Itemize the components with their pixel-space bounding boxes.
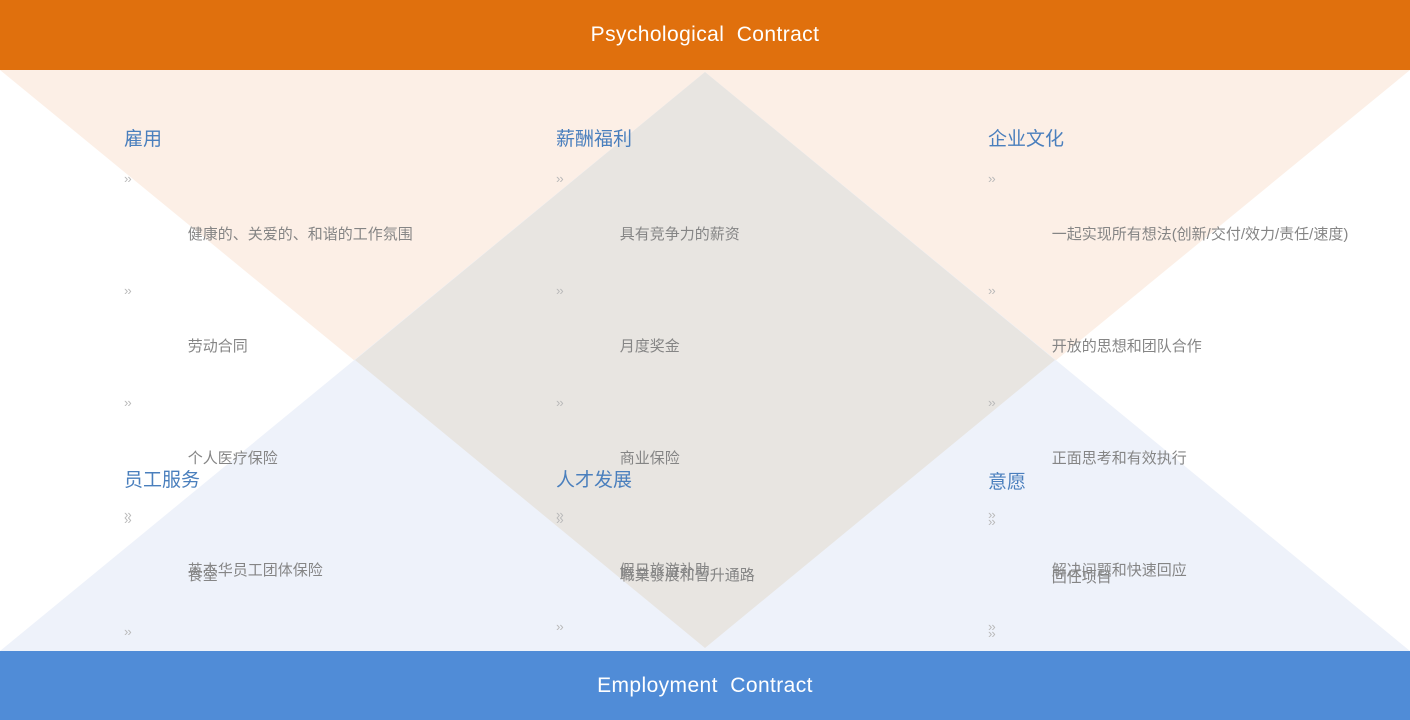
- list-item-label: 个人医疗保险: [188, 450, 278, 467]
- chevron-double-right-icon: ››: [988, 277, 995, 305]
- list-item[interactable]: ›› 職業發展和晉升通路: [556, 506, 956, 618]
- list-item-label: 劳动合同: [188, 338, 248, 355]
- list-item[interactable]: ›› 回任项目: [988, 508, 1400, 620]
- list-item-label: 一起实现所有想法(创新/交付/效力/责任/速度): [1052, 226, 1349, 243]
- list-item[interactable]: ›› 食堂: [124, 506, 524, 618]
- list-item-label: 具有竞争力的薪资: [620, 226, 740, 243]
- header-title: Psychological Contract: [591, 23, 820, 47]
- list-item-label: 職業發展和晉升通路: [620, 567, 755, 584]
- chevron-double-right-icon: ››: [988, 508, 995, 536]
- category-title: 薪酬福利: [556, 127, 956, 153]
- list-item-label: 食堂: [188, 567, 218, 584]
- chevron-double-right-icon: ››: [556, 506, 563, 534]
- category-block-talent-development: 人才发展 ›› 職業發展和晉升通路: [556, 468, 956, 618]
- category-title: 意愿: [988, 470, 1400, 496]
- slide-canvas: Psychological Contract 雇用 ›› 健康的、关爱的、和谐的…: [0, 0, 1410, 720]
- footer-title: Employment Contract: [597, 674, 813, 698]
- header-banner: Psychological Contract: [0, 0, 1410, 70]
- chevron-double-right-icon: ››: [124, 165, 131, 193]
- chevron-double-right-icon: ››: [556, 389, 563, 417]
- category-title: 雇用: [124, 127, 524, 153]
- list-item-label: 月度奖金: [620, 338, 680, 355]
- footer-banner: Employment Contract: [0, 651, 1410, 720]
- list-item-label: 开放的思想和团队合作: [1052, 338, 1202, 355]
- list-item[interactable]: ›› 具有竞争力的薪资: [556, 165, 956, 277]
- list-item[interactable]: ›› 月度奖金: [556, 277, 956, 389]
- chevron-double-right-icon: ››: [124, 277, 131, 305]
- chevron-double-right-icon: ››: [988, 389, 995, 417]
- chevron-double-right-icon: ››: [988, 620, 995, 648]
- list-item[interactable]: ›› 一起实现所有想法(创新/交付/效力/责任/速度): [988, 165, 1400, 277]
- category-title: 人才发展: [556, 468, 956, 494]
- chevron-double-right-icon: ››: [124, 389, 131, 417]
- category-title: 企业文化: [988, 127, 1400, 153]
- list-item-label: 健康的、关爱的、和谐的工作氛围: [188, 226, 413, 243]
- content-area: 雇用 ›› 健康的、关爱的、和谐的工作氛围 ›› 劳动合同 ›› 个人医疗保险 …: [0, 70, 1410, 651]
- list-item-label: 正面思考和有效执行: [1052, 450, 1187, 467]
- category-list: ›› 職業發展和晉升通路: [556, 506, 956, 618]
- category-list: ›› 具有竞争力的薪资 ›› 月度奖金 ›› 商业保险 ›› 假日旅游补助 ››: [556, 165, 956, 720]
- category-block-compensation-benefits: 薪酬福利 ›› 具有竞争力的薪资 ›› 月度奖金 ›› 商业保险 ›› 假日旅游…: [556, 127, 956, 720]
- chevron-double-right-icon: ››: [556, 165, 563, 193]
- chevron-double-right-icon: ››: [988, 165, 995, 193]
- list-item[interactable]: ›› 健康的、关爱的、和谐的工作氛围: [124, 165, 524, 277]
- chevron-double-right-icon: ››: [124, 618, 131, 646]
- list-item[interactable]: ›› 开放的思想和团队合作: [988, 277, 1400, 389]
- category-title: 员工服务: [124, 468, 524, 494]
- list-item-label: 回任项目: [1052, 569, 1112, 586]
- list-item[interactable]: ›› 劳动合同: [124, 277, 524, 389]
- chevron-double-right-icon: ››: [556, 277, 563, 305]
- list-item-label: 商业保险: [620, 450, 680, 467]
- chevron-double-right-icon: ››: [124, 506, 131, 534]
